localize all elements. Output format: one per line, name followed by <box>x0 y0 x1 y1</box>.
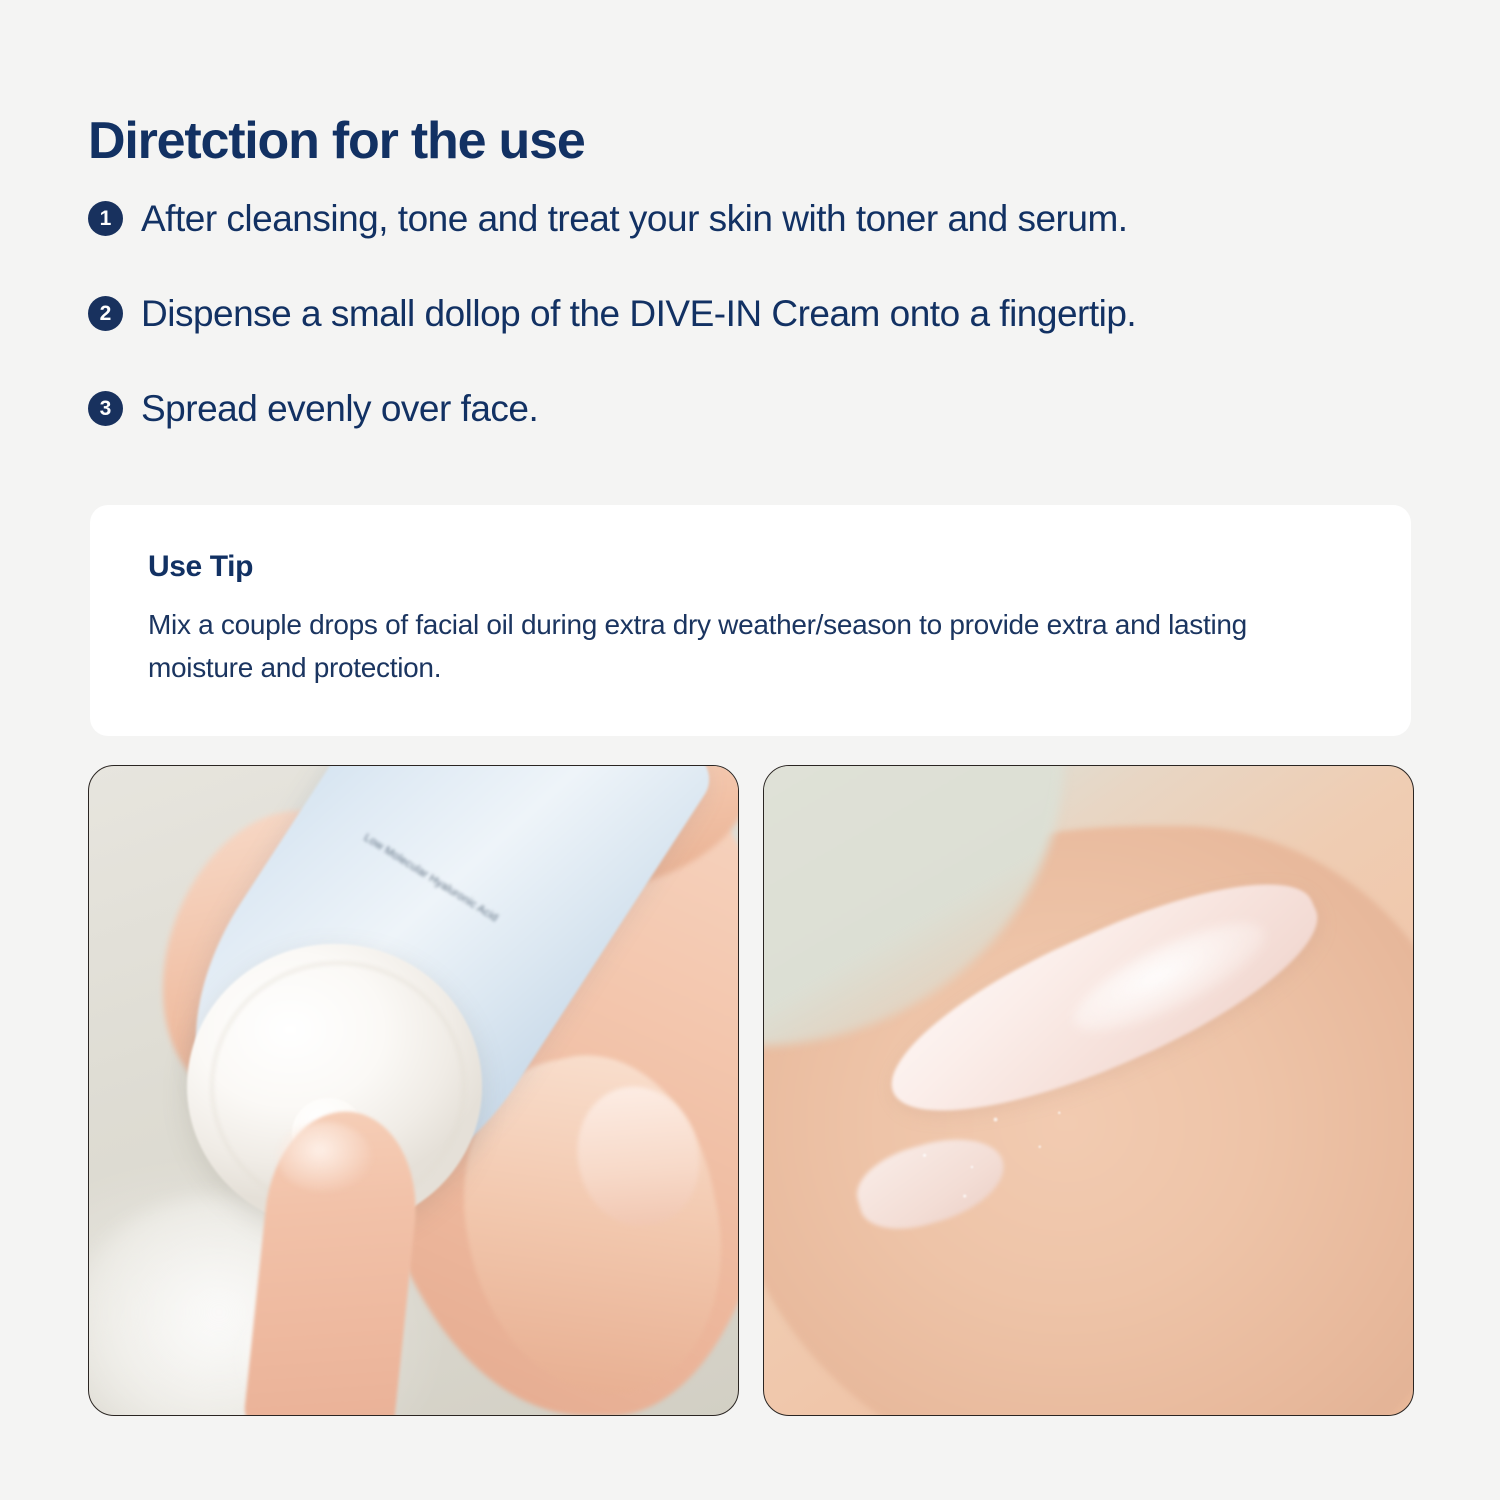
page-title: Diretction for the use <box>88 113 585 170</box>
use-tip-title: Use Tip <box>148 550 1359 584</box>
step-number-badge: 3 <box>88 391 123 426</box>
use-tip-body: Mix a couple drops of facial oil during … <box>148 604 1328 689</box>
step-text: After cleansing, tone and treat your ski… <box>141 196 1128 241</box>
photo-gallery: Low Molecular Hyaluronic Acid <box>88 765 1414 1416</box>
direction-for-use-page: Diretction for the use 1 After cleansing… <box>0 0 1500 1500</box>
step-text: Spread evenly over face. <box>141 386 538 431</box>
list-item: 2 Dispense a small dollop of the DIVE-IN… <box>88 291 1418 336</box>
step-text: Dispense a small dollop of the DIVE-IN C… <box>141 291 1136 336</box>
list-item: 3 Spread evenly over face. <box>88 386 1418 431</box>
cream-swatch-photo <box>763 765 1414 1416</box>
product-dispense-photo: Low Molecular Hyaluronic Acid <box>88 765 739 1416</box>
index-finger-highlight <box>277 1122 372 1192</box>
step-number-badge: 2 <box>88 296 123 331</box>
use-tip-card: Use Tip Mix a couple drops of facial oil… <box>90 505 1411 736</box>
step-number-badge: 1 <box>88 201 123 236</box>
list-item: 1 After cleansing, tone and treat your s… <box>88 196 1418 241</box>
steps-list: 1 After cleansing, tone and treat your s… <box>88 196 1418 431</box>
